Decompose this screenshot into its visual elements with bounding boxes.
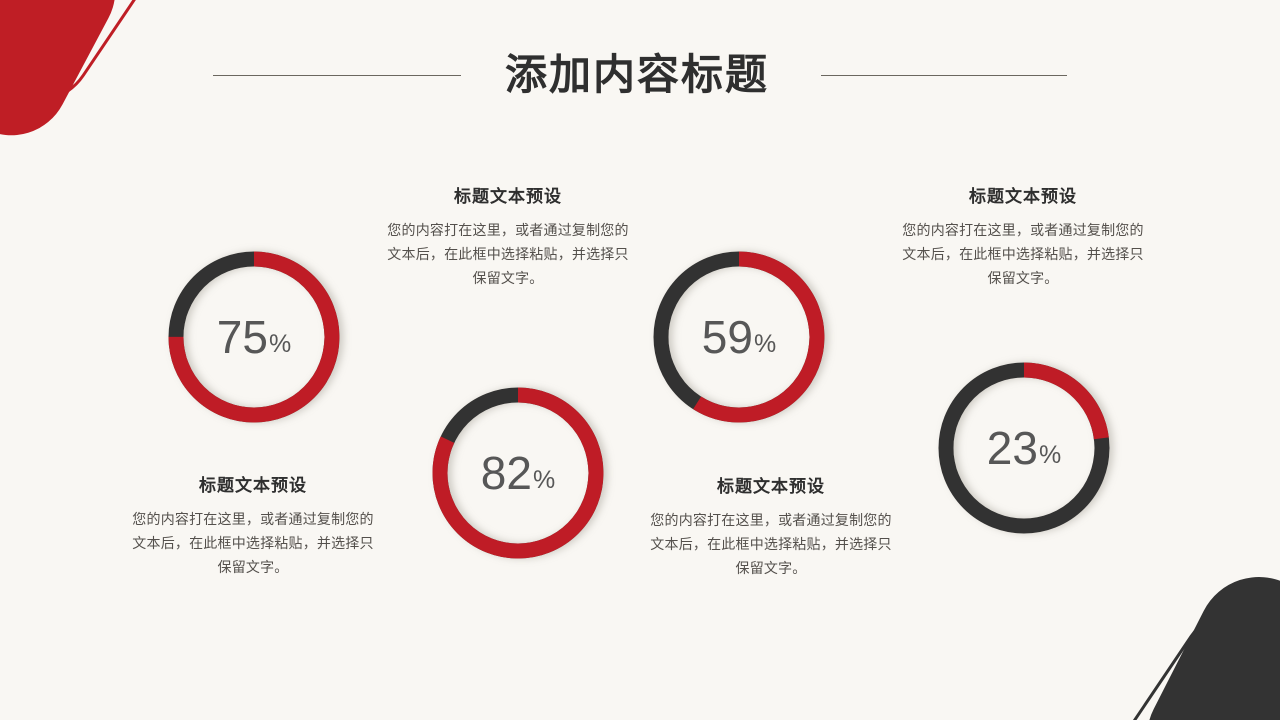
text-block-4: 标题文本预设 您的内容打在这里，或者通过复制您的文本后，在此框中选择粘贴，并选择…: [900, 188, 1146, 290]
text-block-heading: 标题文本预设: [900, 188, 1146, 205]
donut-ring-82: [432, 387, 604, 559]
donut-ring-75: [168, 251, 340, 423]
text-block-body: 您的内容打在这里，或者通过复制您的文本后，在此框中选择粘贴，并选择只保留文字。: [900, 218, 1146, 290]
text-block-2: 标题文本预设 您的内容打在这里，或者通过复制您的文本后，在此框中选择粘贴，并选择…: [385, 188, 631, 290]
text-block-3: 标题文本预设 您的内容打在这里，或者通过复制您的文本后，在此框中选择粘贴，并选择…: [648, 478, 894, 580]
text-block-body: 您的内容打在这里，或者通过复制您的文本后，在此框中选择粘贴，并选择只保留文字。: [385, 218, 631, 290]
bottom-right-dark-outline-square-icon: [1097, 581, 1280, 720]
donut-chart-82: 82 %: [432, 387, 604, 559]
text-block-1: 标题文本预设 您的内容打在这里，或者通过复制您的文本后，在此框中选择粘贴，并选择…: [130, 477, 376, 579]
donut-chart-75: 75 %: [168, 251, 340, 423]
text-block-body: 您的内容打在这里，或者通过复制您的文本后，在此框中选择粘贴，并选择只保留文字。: [130, 507, 376, 579]
donut-chart-23: 23 %: [938, 362, 1110, 534]
donut-ring-23: [938, 362, 1110, 534]
bottom-right-dark-rounded-square-icon: [1126, 556, 1280, 720]
text-block-body: 您的内容打在这里，或者通过复制您的文本后，在此框中选择粘贴，并选择只保留文字。: [648, 508, 894, 580]
title-rule-right: [821, 75, 1067, 76]
page-title: 添加内容标题: [505, 54, 769, 96]
title-rule-left: [213, 75, 461, 76]
slide-header: 添加内容标题: [0, 44, 1280, 106]
text-block-heading: 标题文本预设: [385, 188, 631, 205]
donut-ring-59: [653, 251, 825, 423]
text-block-heading: 标题文本预设: [648, 478, 894, 495]
slide-canvas: 添加内容标题 75 %: [0, 0, 1280, 720]
donut-chart-59: 59 %: [653, 251, 825, 423]
text-block-heading: 标题文本预设: [130, 477, 376, 494]
